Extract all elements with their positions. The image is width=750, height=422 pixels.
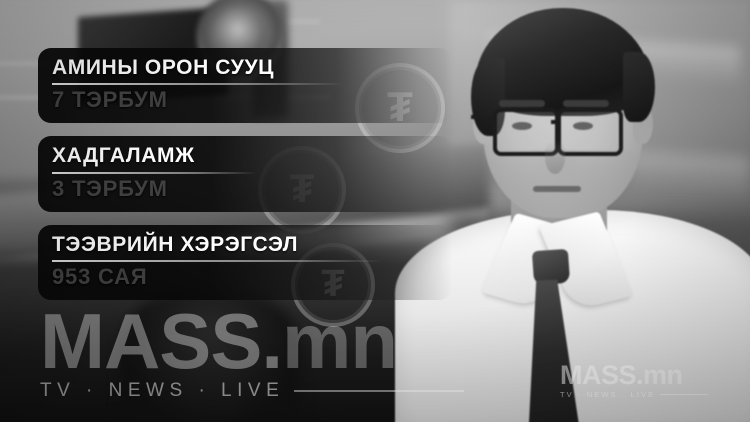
info-pill-value: 953 САЯ	[52, 265, 382, 289]
subject-brow-right	[563, 100, 609, 107]
subject-tie-knot	[532, 249, 570, 285]
info-pill-title: ХАДГАЛАМЖ	[52, 145, 382, 167]
news-graphic-frame: ₮ ₮ ₮ АМИНЫ ОРОН СУУЦ 7 ТЭРБУМ ХАДГАЛАМЖ…	[0, 0, 750, 422]
info-pill-divider	[52, 172, 257, 174]
info-pill-divider	[52, 83, 344, 85]
glasses-bridge-icon	[551, 120, 559, 124]
subject-hair-right	[623, 52, 655, 122]
subject-portrait	[405, 0, 750, 422]
info-pill-vehicles: ТЭЭВРИЙН ХЭРЭГСЭЛ 953 САЯ	[38, 225, 452, 300]
info-pill-value: 7 ТЭРБУМ	[52, 88, 382, 112]
info-pill-list: АМИНЫ ОРОН СУУЦ 7 ТЭРБУМ ХАДГАЛАМЖ 3 ТЭР…	[38, 48, 452, 313]
subject-face-shadow	[483, 150, 643, 220]
subject-brow-left	[499, 100, 545, 107]
info-pill-housing: АМИНЫ ОРОН СУУЦ 7 ТЭРБУМ	[38, 48, 452, 123]
info-pill-title: ТЭЭВРИЙН ХЭРЭГСЭЛ	[52, 234, 382, 256]
info-pill-divider	[52, 260, 382, 262]
info-pill-title: АМИНЫ ОРОН СУУЦ	[52, 57, 382, 79]
info-pill-savings: ХАДГАЛАМЖ 3 ТЭРБУМ	[38, 136, 452, 211]
glasses-lens-right-icon	[557, 108, 623, 156]
info-pill-value: 3 ТЭРБУМ	[52, 177, 382, 201]
